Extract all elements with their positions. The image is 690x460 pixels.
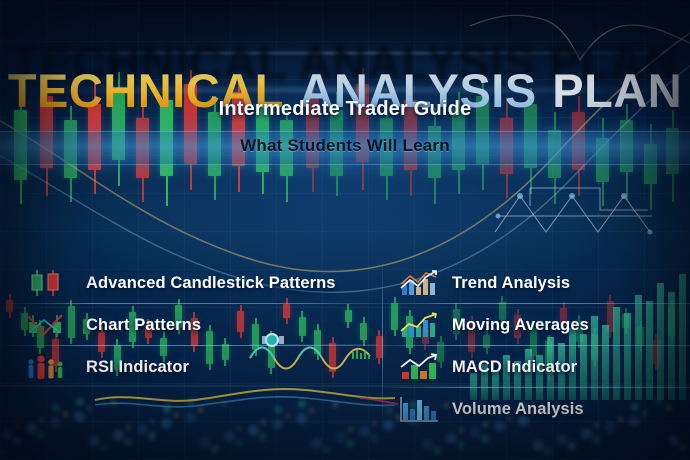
rsi-oscillator-decoration: [0, 0, 690, 460]
poster-canvas: TECHNICAL ANALYSIS PLAN TECHNICAL ANALYS…: [0, 0, 690, 460]
